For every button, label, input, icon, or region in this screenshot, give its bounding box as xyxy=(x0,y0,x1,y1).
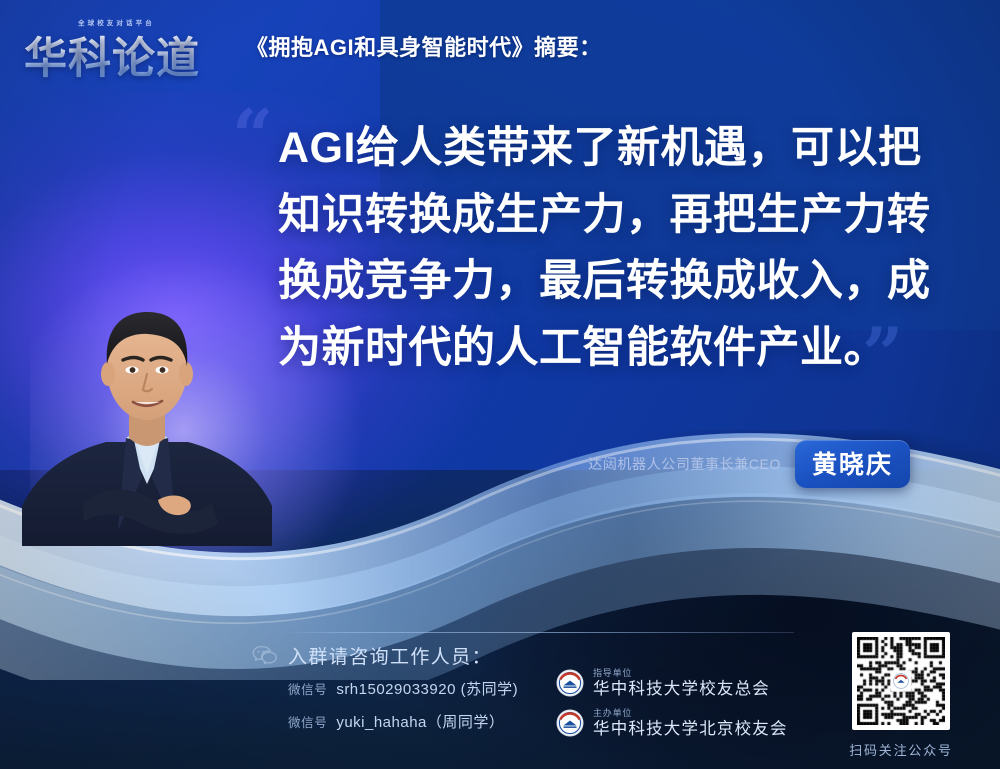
organization-text: 主办单位 华中科技大学北京校友会 xyxy=(593,708,788,739)
logo-text: 华科论道 xyxy=(24,24,200,86)
contact-value[interactable]: srh15029033920 (苏同学) xyxy=(336,678,518,699)
quote-line: 换成竞争力，最后转换成收入，成 xyxy=(278,248,948,315)
qr-code-icon[interactable] xyxy=(852,632,950,730)
organization-name: 华中科技大学校友总会 xyxy=(593,680,770,698)
hust-seal-icon xyxy=(556,669,584,697)
organization-name: 华中科技大学北京校友会 xyxy=(593,720,788,738)
footer-title-row: 入群请咨询工作人员： xyxy=(252,642,812,669)
footer-divider xyxy=(284,632,794,633)
quote-line: 为新时代的人工智能软件产业。 xyxy=(278,315,948,382)
organization-kind: 指导单位 xyxy=(593,668,770,678)
hust-seal-icon xyxy=(556,709,584,737)
organization-kind: 主办单位 xyxy=(593,708,788,718)
qr-center-logo-icon xyxy=(891,671,911,691)
wechat-icon xyxy=(252,645,278,667)
page-title: 《拥抱AGI和具身智能时代》摘要： xyxy=(246,30,602,62)
organization-list: 指导单位 华中科技大学校友总会 主办单位 华中科技大学北京校友会 xyxy=(556,668,788,747)
organization-text: 指导单位 华中科技大学校友总会 xyxy=(593,668,770,699)
organization-row: 主办单位 华中科技大学北京校友会 xyxy=(556,708,788,739)
speaker-name-badge: 黄晓庆 xyxy=(795,440,910,488)
quote-line: 知识转换成生产力，再把生产力转 xyxy=(278,182,948,249)
qr-caption: 扫码关注公众号 xyxy=(836,740,966,759)
poster-header: 全球校友对话平台 华科论道 《拥抱AGI和具身智能时代》摘要： xyxy=(0,0,1000,92)
speaker-attribution: 达闼机器人公司董事长兼CEO 黄晓庆 xyxy=(600,440,910,488)
qr-code-block: 扫码关注公众号 xyxy=(836,632,966,759)
contact-value[interactable]: yuki_hahaha（周同学） xyxy=(336,711,504,732)
speaker-role: 达闼机器人公司董事长兼CEO xyxy=(588,454,781,474)
contact-label: 微信号 xyxy=(288,712,327,731)
quote-line: AGI给人类带来了新机遇，可以把 xyxy=(278,115,948,182)
contact-label: 微信号 xyxy=(288,679,327,698)
brand-logo[interactable]: 全球校友对话平台 华科论道 xyxy=(24,15,220,77)
open-quote-mark: “ xyxy=(232,100,273,172)
organization-row: 指导单位 华中科技大学校友总会 xyxy=(556,668,788,699)
poster-root: 全球校友对话平台 华科论道 《拥抱AGI和具身智能时代》摘要： “ ” AGI给… xyxy=(0,0,1000,769)
speaker-portrait xyxy=(22,278,272,546)
quote-text: AGI给人类带来了新机遇，可以把 知识转换成生产力，再把生产力转 换成竞争力，最… xyxy=(278,115,948,382)
footer-title: 入群请咨询工作人员： xyxy=(288,642,492,669)
